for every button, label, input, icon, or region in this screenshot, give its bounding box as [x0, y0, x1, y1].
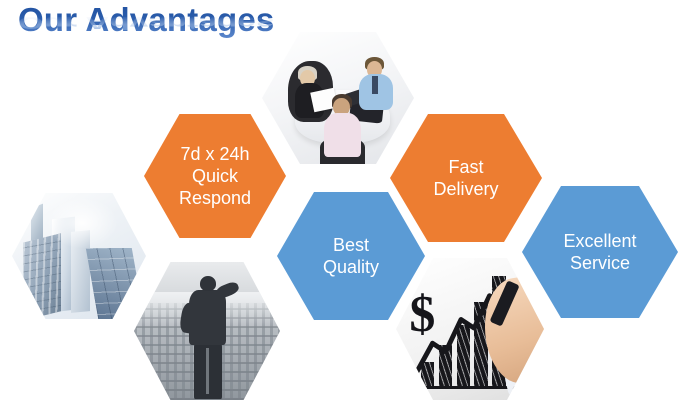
hex-business-meeting[interactable] [262, 32, 414, 164]
hex-quick-respond-label: 7d x 24h Quick Respond [173, 143, 257, 209]
page-title-reflection: Our Advantages [18, 13, 358, 32]
person-front-body [324, 113, 360, 158]
person-right-tie [372, 76, 377, 94]
hex-best-quality[interactable]: Best Quality [277, 192, 425, 320]
hex-businessman-skyline[interactable] [134, 262, 280, 400]
hex-excellent-service[interactable]: Excellent Service [522, 186, 678, 318]
chart-baseline [417, 386, 518, 389]
business-meeting-photo [262, 32, 414, 164]
hex-growth-chart[interactable]: $ [396, 258, 544, 400]
hex-office-towers[interactable] [12, 193, 146, 319]
hex-best-quality-label: Best Quality [317, 234, 385, 278]
sky-glow [47, 198, 117, 248]
hex-fast-delivery[interactable]: Fast Delivery [390, 114, 542, 242]
businessman-head [200, 276, 216, 291]
businessman-skyline-photo [134, 262, 280, 400]
hex-quick-respond[interactable]: 7d x 24h Quick Respond [144, 114, 286, 238]
growth-chart-photo: $ [396, 258, 544, 400]
tower-right-windows [86, 248, 144, 319]
hex-excellent-service-label: Excellent Service [557, 230, 642, 274]
businessman-leg-gap [206, 348, 210, 395]
slide-canvas: Our Advantages Our Advantages 7d x 24h Q… [0, 0, 680, 400]
glass-skyscrapers-photo [12, 193, 146, 319]
hex-fast-delivery-label: Fast Delivery [427, 156, 504, 200]
